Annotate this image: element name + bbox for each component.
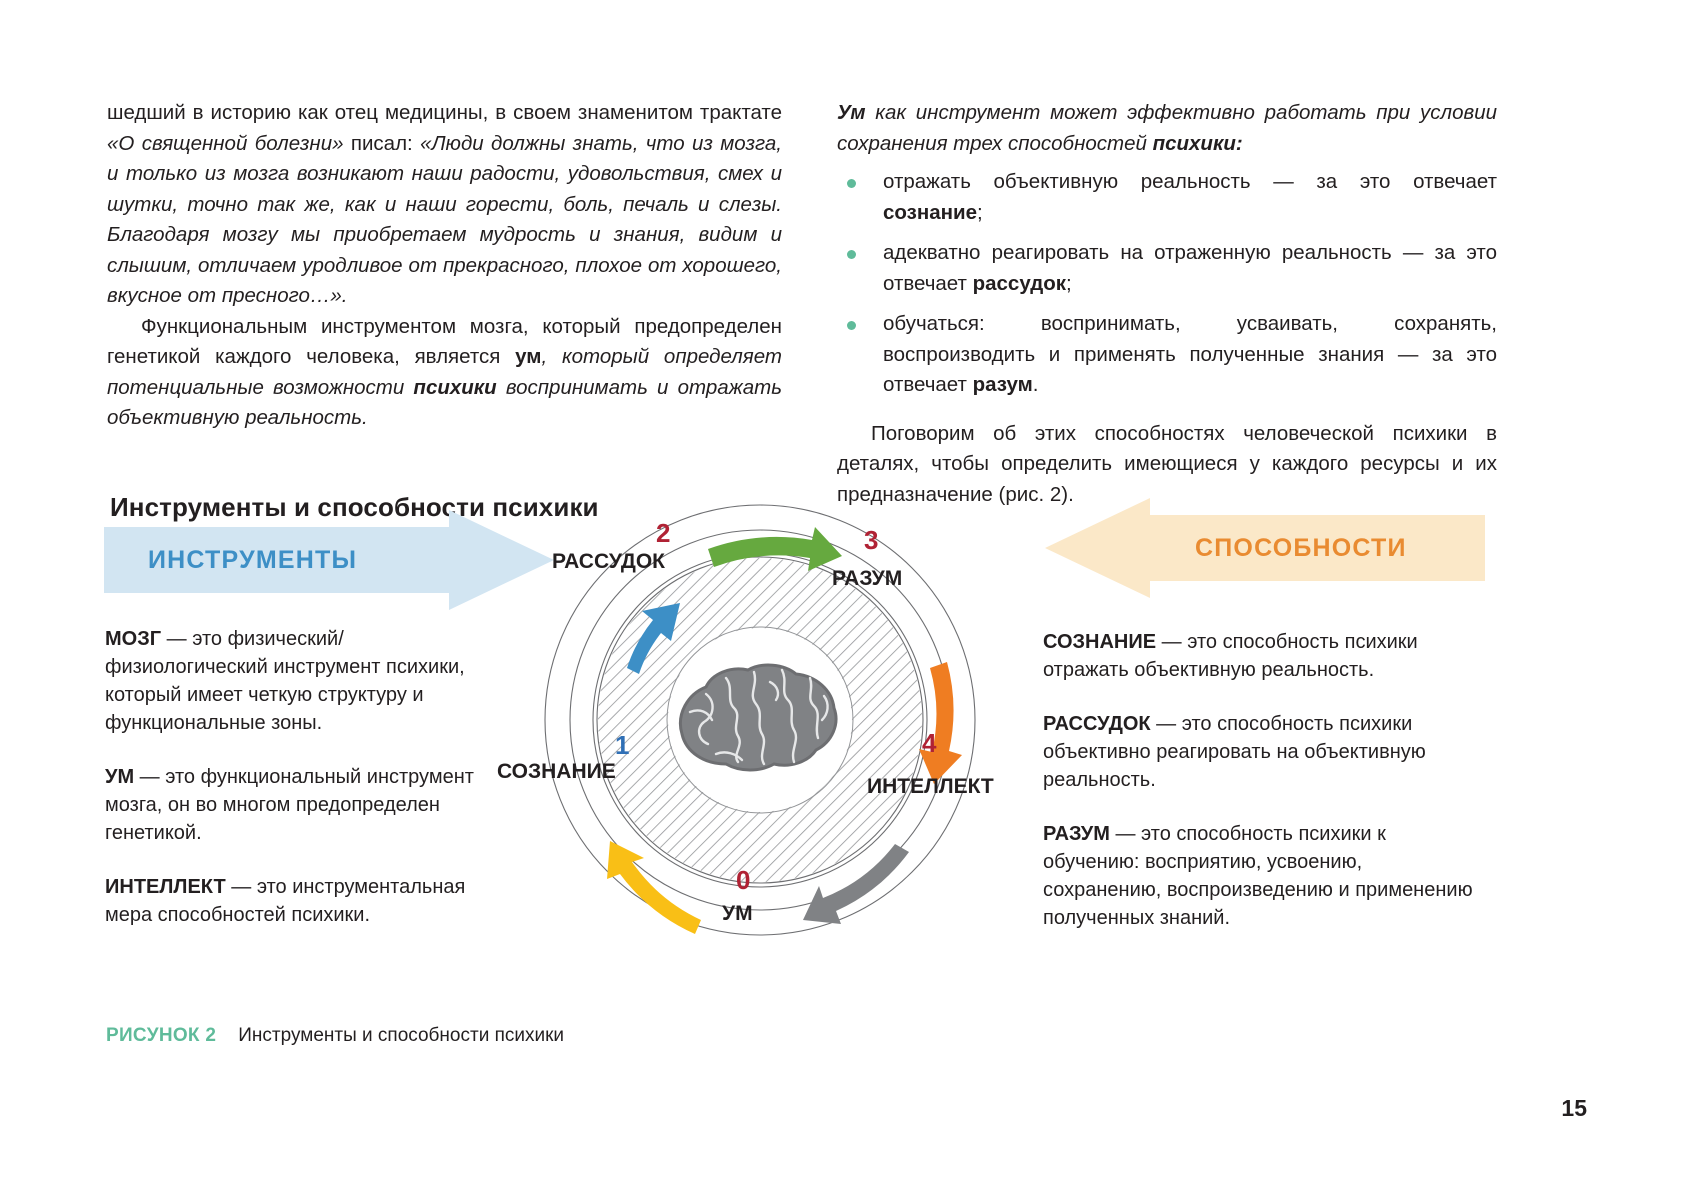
paragraph-hippocrates: шедший в историю как отец медицины, в св…: [107, 98, 782, 312]
ring-number-1: 1: [615, 730, 629, 761]
bullet-tail-1: ;: [977, 201, 983, 224]
ability-consciousness-term: СОЗНАНИЕ: [1043, 631, 1156, 653]
abilities-banner-label: СПОСОБНОСТИ: [1195, 534, 1407, 563]
left-text-column: шедший в историю как отец медицины, в св…: [107, 98, 782, 434]
abilities-banner: СПОСОБНОСТИ: [1045, 498, 1485, 598]
quote-text: «Люди должны знать, что из мозга, и толь…: [107, 132, 782, 308]
ability-consciousness: СОЗНАНИЕ — это способность психики отраж…: [1043, 628, 1473, 684]
instrument-intellect: ИНТЕЛЛЕКТ — это инструментальная мера сп…: [105, 873, 505, 929]
instrument-mind-term: УМ: [105, 766, 134, 788]
right-text-column: Ум как инструмент может эффективно работ…: [837, 98, 1497, 510]
instrument-mind-body: — это функциональный инструмент мозга, о…: [105, 766, 474, 844]
instruments-banner-label: ИНСТРУМЕНТЫ: [148, 546, 357, 575]
ring-label-um: УМ: [722, 902, 753, 926]
instrument-brain: МОЗГ — это физический/физиологический ин…: [105, 625, 505, 737]
bullet-text-1: отражать объективную реальность — за это…: [883, 170, 1497, 193]
ability-reason-term: РАССУДОК: [1043, 713, 1151, 735]
ring-number-2: 2: [656, 518, 670, 549]
lead-term-psihiki: психики:: [1153, 132, 1243, 155]
list-item: обучаться: воспринимать, усваивать, сохр…: [837, 309, 1497, 401]
list-item: адекватно реагировать на отраженную реал…: [837, 238, 1497, 299]
ring-label-rassudok: РАССУДОК: [552, 550, 665, 574]
term-psihiki: психики: [413, 376, 496, 399]
paragraph-mind-tool: Функциональным инструментом мозга, котор…: [107, 312, 782, 434]
bullet-dot-icon: [847, 179, 856, 188]
para-plain-1: шедший в историю как отец медицины, в св…: [107, 101, 782, 124]
treatise-title: «О священной болезни»: [107, 132, 344, 155]
bullet-bold-3: разум: [973, 373, 1033, 396]
abilities-descriptions: СОЗНАНИЕ — это способность психики отраж…: [1043, 628, 1473, 958]
instrument-brain-term: МОЗГ: [105, 628, 161, 650]
para-plain-2: писал:: [344, 132, 421, 155]
book-page: шедший в историю как отец медицины, в св…: [0, 0, 1695, 1200]
ability-intelligence-term: РАЗУМ: [1043, 823, 1110, 845]
bullet-bold-1: сознание: [883, 201, 977, 224]
ring-label-razum: РАЗУМ: [832, 567, 902, 591]
diagram-svg: [490, 470, 1030, 970]
bullet-bold-2: рассудок: [973, 272, 1066, 295]
lead-term-um: Ум: [837, 101, 866, 124]
ring-number-4: 4: [922, 728, 936, 759]
ring-number-3: 3: [864, 525, 878, 556]
ring-label-intellekt: ИНТЕЛЛЕКТ: [867, 775, 994, 799]
bullet-tail-3: .: [1033, 373, 1039, 396]
figure-caption-text: Инструменты и способности психики: [238, 1025, 564, 1046]
ring-label-soznanie: СОЗНАНИЕ: [497, 760, 616, 784]
bullet-dot-icon: [847, 250, 856, 259]
instrument-intellect-term: ИНТЕЛЛЕКТ: [105, 876, 226, 898]
ability-intelligence: РАЗУМ — это способность психики к обучен…: [1043, 820, 1473, 932]
bullet-dot-icon: [847, 321, 856, 330]
page-number: 15: [1561, 1095, 1587, 1122]
term-um: ум: [515, 345, 541, 368]
instruments-banner: ИНСТРУМЕНТЫ: [104, 510, 554, 610]
ring-number-0: 0: [736, 865, 750, 896]
list-item: отражать объективную реальность — за это…: [837, 167, 1497, 228]
figure-caption-number: РИСУНОК 2: [106, 1025, 216, 1046]
ability-reason: РАССУДОК — это способность психики объек…: [1043, 710, 1473, 794]
instruments-descriptions: МОЗГ — это физический/физиологический ин…: [105, 625, 505, 955]
figure-caption: РИСУНОК 2Инструменты и способности психи…: [106, 1025, 564, 1047]
psyche-cycle-diagram: 2 3 1 4 0 РАССУДОК РАЗУМ СОЗНАНИЕ ИНТЕЛЛ…: [490, 470, 1030, 970]
bullet-tail-2: ;: [1066, 272, 1072, 295]
paragraph-lead: Ум как инструмент может эффективно работ…: [837, 98, 1497, 159]
instrument-mind: УМ — это функциональный инструмент мозга…: [105, 763, 505, 847]
abilities-bullet-list: отражать объективную реальность — за это…: [837, 167, 1497, 401]
